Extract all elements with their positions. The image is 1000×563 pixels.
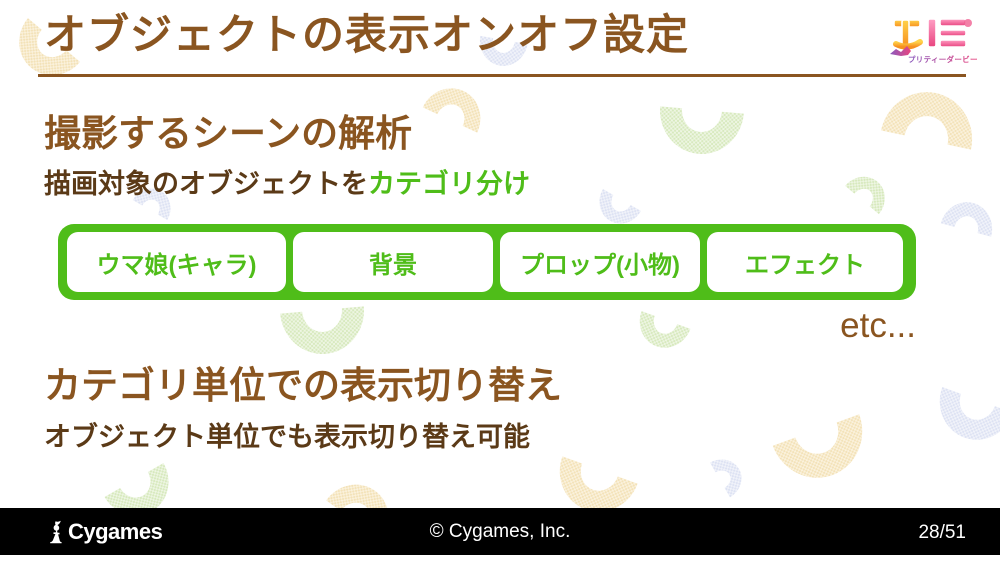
category-chip-group: ウマ娘(キャラ) 背景 プロップ(小物) エフェクト: [58, 224, 916, 300]
section-2-heading: カテゴリ単位での表示切り替え: [44, 366, 562, 407]
section-1-subtitle-accent: カテゴリ分け: [368, 169, 530, 199]
section-1-heading: 撮影するシーンの解析: [44, 114, 412, 155]
brand-logo-subtitle: プリティーダービー: [908, 54, 978, 64]
etc-label: etc...: [0, 308, 916, 343]
title-underline-rule: [38, 74, 966, 77]
cygames-logo-text: Cygames: [68, 521, 162, 543]
cygames-logo-mark-icon: [46, 520, 66, 544]
slide-canvas: オブジェクトの表示オンオフ設定: [0, 0, 1000, 563]
section-2-subtitle: オブジェクト単位でも表示切り替え可能: [44, 423, 530, 453]
category-chip-effect[interactable]: エフェクト: [707, 232, 903, 292]
category-chip-prop[interactable]: プロップ(小物): [500, 232, 700, 292]
footer-page-number: 28/51: [918, 522, 966, 544]
section-1-subtitle: 描画対象のオブジェクトをカテゴリ分け: [44, 170, 530, 200]
page-title: オブジェクトの表示オンオフ設定: [44, 14, 689, 56]
cygames-logo: Cygames: [46, 520, 162, 544]
category-chip-uma-musume[interactable]: ウマ娘(キャラ): [67, 232, 286, 292]
slide-footer: © Cygames, Inc. Cygames 28/51: [0, 508, 1000, 555]
section-1-subtitle-prefix: 描画対象のオブジェクトを: [44, 169, 368, 199]
brand-logo-svg: プリティーダービー: [882, 14, 978, 66]
category-chip-background[interactable]: 背景: [293, 232, 493, 292]
uma-musume-pretty-derby-logo: プリティーダービー: [882, 14, 978, 66]
